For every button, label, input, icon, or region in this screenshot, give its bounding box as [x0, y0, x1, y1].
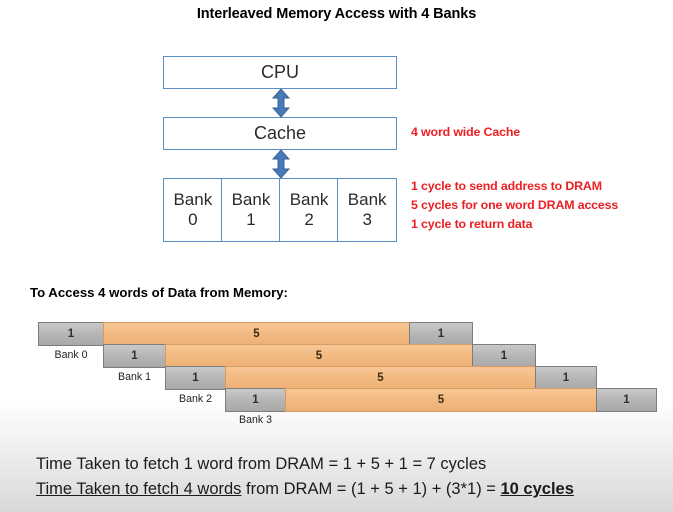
timing-segment-bank1-return: 1	[472, 344, 536, 368]
timing-segment-bank3-access: 5	[285, 388, 597, 412]
timing-gantt-chart: 1 5 1 Bank 0 1 5 1 Bank 1 1 5 1 Bank 2 1…	[0, 0, 673, 512]
timing-segment-bank1-access: 5	[165, 344, 473, 368]
timing-tick-bank-1: Bank 1	[103, 371, 166, 383]
conclusion-line-2: Time Taken to fetch 4 words from DRAM = …	[36, 480, 574, 499]
timing-segment-bank0-access: 5	[103, 322, 410, 346]
conclusion-line-1: Time Taken to fetch 1 word from DRAM = 1…	[36, 455, 486, 474]
timing-segment-bank3-return: 1	[596, 388, 657, 412]
timing-segment-bank0-return: 1	[409, 322, 473, 346]
timing-tick-bank-2: Bank 2	[165, 393, 226, 405]
timing-segment-bank2-address: 1	[165, 366, 226, 390]
timing-segment-bank2-return: 1	[535, 366, 597, 390]
conclusion-line-2-middle: from DRAM = (1 + 5 + 1) + (3*1) =	[241, 480, 500, 498]
timing-segment-bank2-access: 5	[225, 366, 536, 390]
timing-tick-bank-0: Bank 0	[38, 349, 104, 361]
slide-canvas: Interleaved Memory Access with 4 Banks C…	[0, 0, 673, 512]
timing-segment-bank3-address: 1	[225, 388, 286, 412]
timing-tick-bank-3: Bank 3	[225, 414, 286, 426]
conclusion-line-2-result: 10 cycles	[501, 480, 574, 498]
timing-segment-bank1-address: 1	[103, 344, 166, 368]
timing-segment-bank0-address: 1	[38, 322, 104, 346]
conclusion-line-2-underlined: Time Taken to fetch 4 words	[36, 480, 241, 498]
